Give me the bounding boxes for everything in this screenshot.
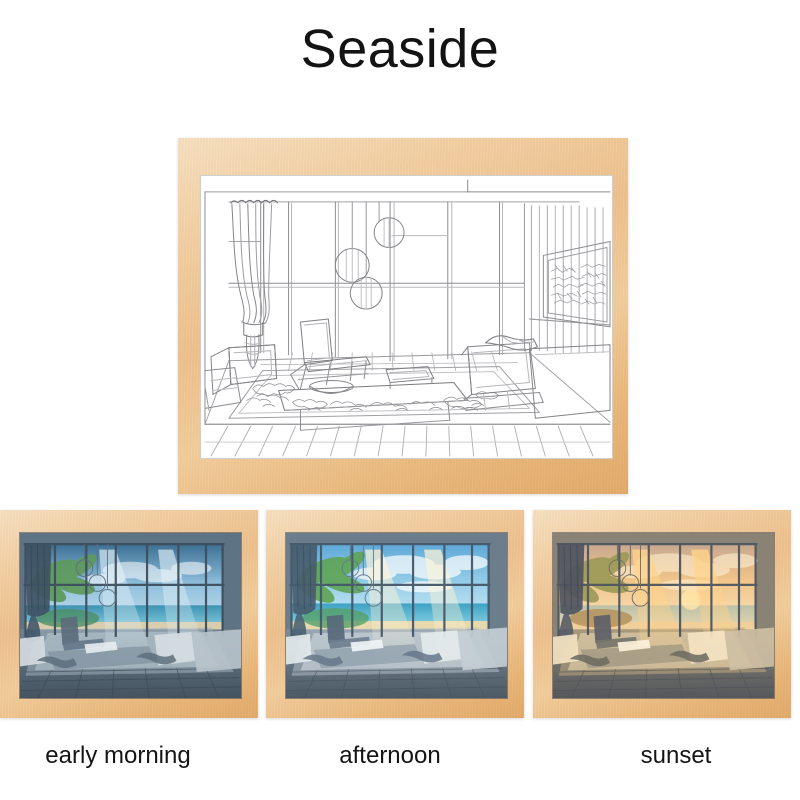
variant-label-early-morning: early morning — [0, 740, 236, 772]
variant-card-afternoon[interactable] — [266, 510, 524, 718]
variant-label-sunset: sunset — [560, 740, 792, 772]
variant-label-afternoon: afternoon — [266, 740, 514, 772]
variant-card-sunset[interactable] — [533, 510, 791, 718]
hero-framed-artwork[interactable] — [178, 138, 628, 494]
variant-artwork-early-morning — [19, 532, 242, 699]
scene-afternoon — [286, 533, 507, 698]
page-title: Seaside — [0, 22, 800, 76]
hero-artwork-canvas — [200, 175, 613, 459]
scene-sunset — [553, 533, 774, 698]
variant-artwork-sunset — [552, 532, 775, 699]
scene-early-morning — [20, 533, 241, 698]
variant-artwork-afternoon — [285, 532, 508, 699]
variant-card-early-morning[interactable] — [0, 510, 258, 718]
line-art-room-illustration — [201, 176, 612, 458]
